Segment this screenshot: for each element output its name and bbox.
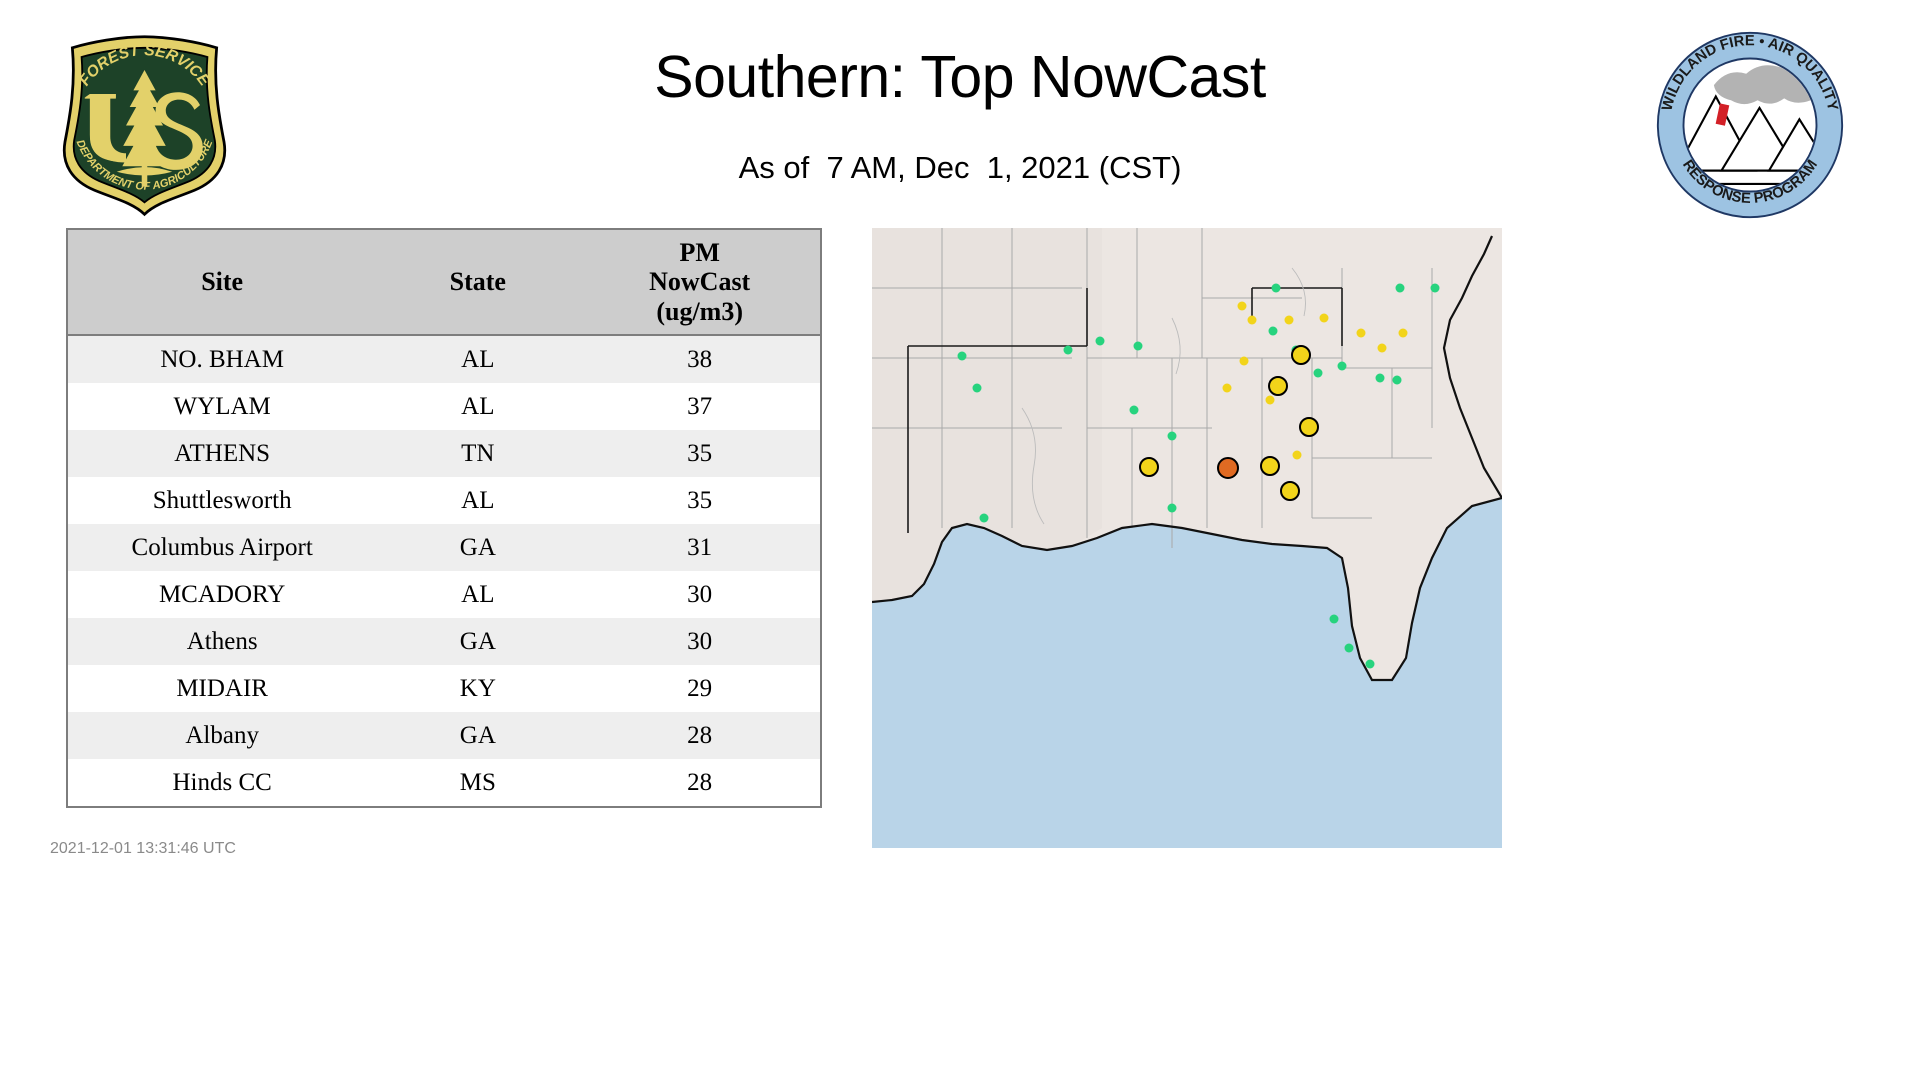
monitor-dot[interactable] bbox=[1376, 374, 1385, 383]
monitor-dot[interactable] bbox=[1314, 369, 1323, 378]
monitor-dot[interactable] bbox=[1378, 344, 1387, 353]
monitor-dot[interactable] bbox=[1096, 337, 1105, 346]
table-cell-pm-nowcast: 28 bbox=[579, 759, 820, 806]
highlighted-site-dot[interactable] bbox=[1281, 482, 1299, 500]
table-cell-state: MS bbox=[376, 759, 579, 806]
column-header-site: Site bbox=[68, 230, 376, 335]
table-cell-pm-nowcast: 29 bbox=[579, 665, 820, 712]
table-cell-pm-nowcast: 38 bbox=[579, 335, 820, 383]
monitor-dot[interactable] bbox=[958, 352, 967, 361]
monitor-dot[interactable] bbox=[1272, 284, 1281, 293]
highlighted-site-dot[interactable] bbox=[1261, 457, 1279, 475]
monitor-dot[interactable] bbox=[973, 384, 982, 393]
monitor-dot[interactable] bbox=[1266, 396, 1275, 405]
nowcast-table-panel: Site State PM NowCast (ug/m3) NO. BHAMAL… bbox=[66, 228, 822, 808]
table-cell-site: Albany bbox=[68, 712, 376, 759]
table-cell-site: ATHENS bbox=[68, 430, 376, 477]
table-cell-pm-nowcast: 31 bbox=[579, 524, 820, 571]
table-body: NO. BHAMAL38WYLAMAL37ATHENSTN35Shuttlesw… bbox=[68, 335, 820, 806]
monitor-dot[interactable] bbox=[1366, 660, 1375, 669]
monitor-dot[interactable] bbox=[1064, 346, 1073, 355]
table-row: WYLAMAL37 bbox=[68, 383, 820, 430]
table-row: MCADORYAL30 bbox=[68, 571, 820, 618]
monitor-dot[interactable] bbox=[1431, 284, 1440, 293]
table-row: ATHENSTN35 bbox=[68, 430, 820, 477]
column-header-pm-line1: PM bbox=[579, 238, 820, 267]
table-cell-state: GA bbox=[376, 618, 579, 665]
table-header-row: Site State PM NowCast (ug/m3) bbox=[68, 230, 820, 335]
monitor-dot[interactable] bbox=[1330, 615, 1339, 624]
monitor-dot[interactable] bbox=[1357, 329, 1366, 338]
monitor-dot[interactable] bbox=[1248, 316, 1257, 325]
monitor-dot[interactable] bbox=[1240, 357, 1249, 366]
table-cell-state: GA bbox=[376, 712, 579, 759]
highlighted-site-dot[interactable] bbox=[1300, 418, 1318, 436]
table-cell-state: GA bbox=[376, 524, 579, 571]
column-header-state: State bbox=[376, 230, 579, 335]
monitor-dot[interactable] bbox=[1396, 284, 1405, 293]
nowcast-table: Site State PM NowCast (ug/m3) NO. BHAMAL… bbox=[68, 230, 820, 806]
monitor-dot[interactable] bbox=[1345, 644, 1354, 653]
page-header: FOREST SERVICE DEPARTMENT OF AGRICULTURE bbox=[0, 0, 1920, 225]
table-cell-state: KY bbox=[376, 665, 579, 712]
monitor-dot[interactable] bbox=[980, 514, 989, 523]
table-cell-site: Hinds CC bbox=[68, 759, 376, 806]
table-row: AlbanyGA28 bbox=[68, 712, 820, 759]
monitor-dot[interactable] bbox=[1134, 342, 1143, 351]
monitor-dot[interactable] bbox=[1320, 314, 1329, 323]
monitor-dot[interactable] bbox=[1238, 302, 1247, 311]
generated-timestamp: 2021-12-01 13:31:46 UTC bbox=[50, 840, 236, 858]
monitor-dot[interactable] bbox=[1168, 504, 1177, 513]
table-cell-site: NO. BHAM bbox=[68, 335, 376, 383]
monitor-dot[interactable] bbox=[1338, 362, 1347, 371]
table-cell-pm-nowcast: 37 bbox=[579, 383, 820, 430]
monitor-dot[interactable] bbox=[1269, 327, 1278, 336]
table-cell-site: MCADORY bbox=[68, 571, 376, 618]
table-cell-site: Athens bbox=[68, 618, 376, 665]
monitor-dot[interactable] bbox=[1293, 451, 1302, 460]
table-cell-pm-nowcast: 30 bbox=[579, 571, 820, 618]
monitor-dot[interactable] bbox=[1223, 384, 1232, 393]
table-cell-state: AL bbox=[376, 335, 579, 383]
monitor-dot[interactable] bbox=[1285, 316, 1294, 325]
air-quality-map[interactable]: Air Quality Index HazardousVery Unhealth… bbox=[872, 228, 1502, 848]
highlighted-site-dot[interactable] bbox=[1140, 458, 1158, 476]
monitor-dot[interactable] bbox=[1393, 376, 1402, 385]
table-row: AthensGA30 bbox=[68, 618, 820, 665]
table-row: Columbus AirportGA31 bbox=[68, 524, 820, 571]
table-header: Site State PM NowCast (ug/m3) bbox=[68, 230, 820, 335]
page-title: Southern: Top NowCast bbox=[0, 48, 1920, 107]
map-graphic bbox=[872, 228, 1502, 848]
highlighted-site-dot[interactable] bbox=[1269, 377, 1287, 395]
table-cell-pm-nowcast: 30 bbox=[579, 618, 820, 665]
table-cell-state: AL bbox=[376, 571, 579, 618]
monitor-dot[interactable] bbox=[1168, 432, 1177, 441]
table-cell-state: AL bbox=[376, 383, 579, 430]
table-cell-state: TN bbox=[376, 430, 579, 477]
table-row: Hinds CCMS28 bbox=[68, 759, 820, 806]
monitor-dot[interactable] bbox=[1130, 406, 1139, 415]
table-cell-site: WYLAM bbox=[68, 383, 376, 430]
highlighted-site-dot[interactable] bbox=[1292, 346, 1310, 364]
table-cell-site: Columbus Airport bbox=[68, 524, 376, 571]
table-cell-site: MIDAIR bbox=[68, 665, 376, 712]
table-row: MIDAIRKY29 bbox=[68, 665, 820, 712]
monitor-dot[interactable] bbox=[1399, 329, 1408, 338]
table-cell-pm-nowcast: 28 bbox=[579, 712, 820, 759]
table-row: ShuttlesworthAL35 bbox=[68, 477, 820, 524]
table-cell-state: AL bbox=[376, 477, 579, 524]
table-row: NO. BHAMAL38 bbox=[68, 335, 820, 383]
table-cell-pm-nowcast: 35 bbox=[579, 477, 820, 524]
column-header-pm-line3: (ug/m3) bbox=[579, 297, 820, 326]
table-cell-site: Shuttlesworth bbox=[68, 477, 376, 524]
page-subtitle: As of 7 AM, Dec 1, 2021 (CST) bbox=[0, 150, 1920, 186]
column-header-pm-nowcast: PM NowCast (ug/m3) bbox=[579, 230, 820, 335]
table-cell-pm-nowcast: 35 bbox=[579, 430, 820, 477]
column-header-pm-line2: NowCast bbox=[579, 267, 820, 296]
highlighted-site-dot[interactable] bbox=[1218, 458, 1238, 478]
